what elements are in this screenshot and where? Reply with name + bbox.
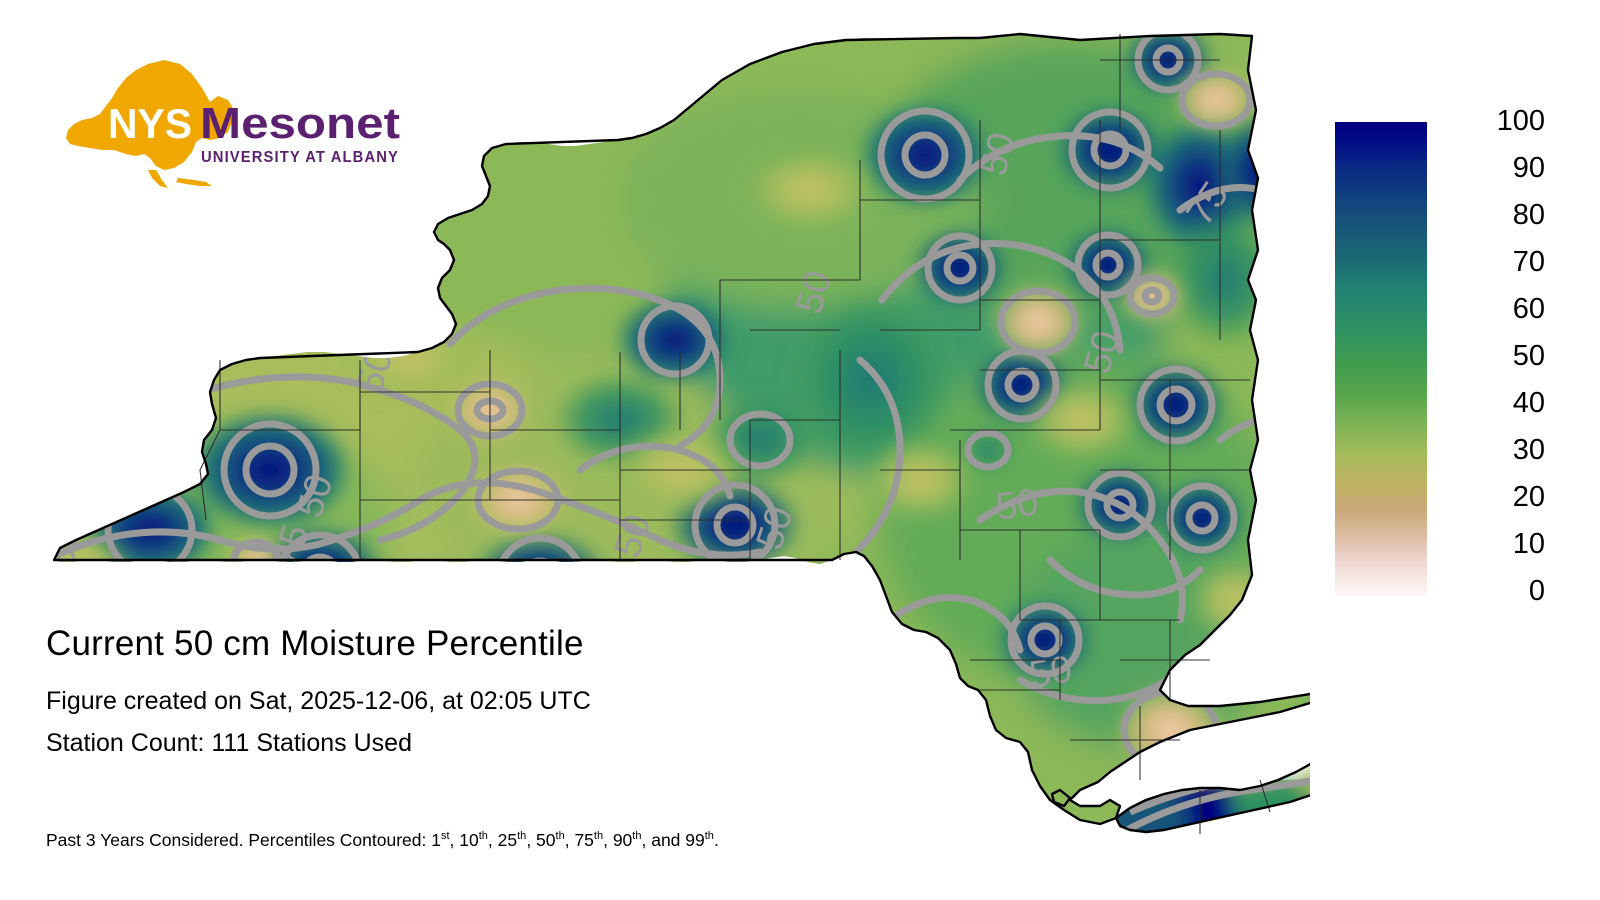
colorbar-tick: 60 <box>1435 295 1545 324</box>
ordinal-suffix: st <box>441 830 450 842</box>
colorbar-tick: 80 <box>1435 201 1545 230</box>
contour-label-50: 50 <box>993 481 1041 528</box>
colorbar-tick: 20 <box>1435 483 1545 512</box>
colorbar-tick: 50 <box>1435 342 1545 371</box>
ordinal-suffix: th <box>705 830 714 842</box>
colorbar-tick: 40 <box>1435 389 1545 418</box>
ordinal-suffix: th <box>594 830 603 842</box>
ordinal-suffix: th <box>479 830 488 842</box>
colorbar-tick: 70 <box>1435 248 1545 277</box>
ordinal-suffix: th <box>632 830 641 842</box>
colorbar-gradient <box>1335 122 1427 596</box>
ordinal-suffix: th <box>517 830 526 842</box>
ordinal-suffix: th <box>556 830 565 842</box>
colorbar-tick: 10 <box>1435 530 1545 559</box>
colorbar-tick: 90 <box>1435 154 1545 183</box>
colorbar-tick: 0 <box>1435 577 1545 606</box>
colorbar-tick: 30 <box>1435 436 1545 465</box>
caption-block: Current 50 cm Moisture Percentile Figure… <box>46 624 1046 770</box>
figure-created-line: Figure created on Sat, 2025-12-06, at 02… <box>46 686 1046 716</box>
colorbar-tick: 100 <box>1435 107 1545 136</box>
colorbar: 100 90 80 70 60 50 40 30 20 10 0 <box>1335 120 1575 600</box>
colorbar-tick-labels: 100 90 80 70 60 50 40 30 20 10 0 <box>1435 120 1555 600</box>
footnote-line: Past 3 Years Considered. Percentiles Con… <box>46 825 719 851</box>
page-title: Current 50 cm Moisture Percentile <box>46 624 1046 664</box>
station-count-line: Station Count: 111 Stations Used <box>46 728 1046 758</box>
